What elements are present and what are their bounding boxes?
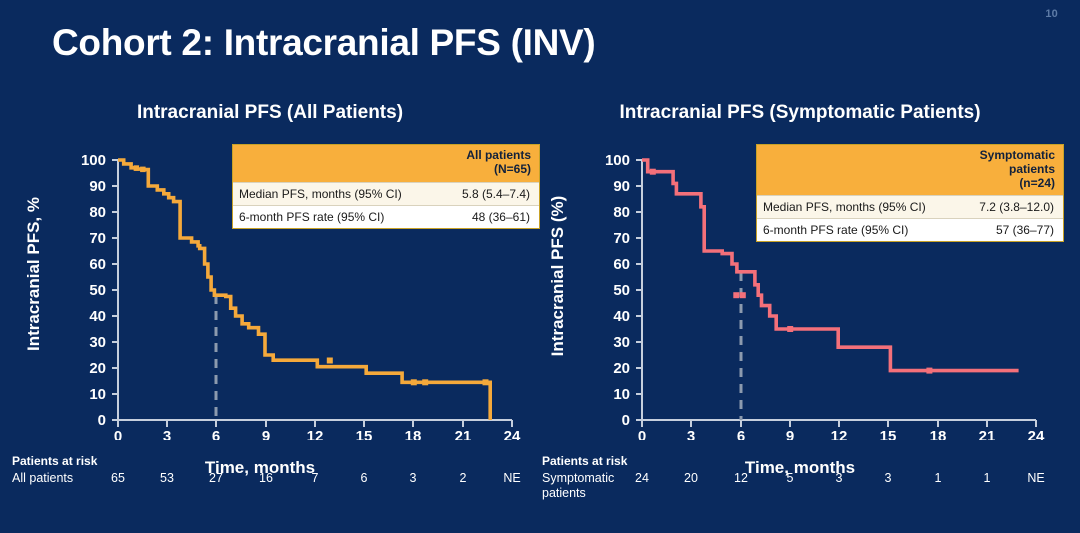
svg-text:70: 70 (613, 230, 630, 247)
median-pfs-value-left: 5.8 (5.4–7.4) (423, 182, 539, 205)
svg-text:60: 60 (613, 256, 630, 273)
risk-value: 65 (103, 471, 133, 485)
svg-text:80: 80 (613, 204, 630, 221)
svg-text:24: 24 (1028, 428, 1045, 440)
risk-value: 3 (824, 471, 854, 485)
stats-header-row: All patients (N=65) (233, 145, 539, 182)
risk-value: 3 (398, 471, 428, 485)
svg-text:3: 3 (163, 428, 171, 440)
risk-value: 3 (873, 471, 903, 485)
six-month-rate-value-left: 48 (36–61) (423, 205, 539, 228)
svg-text:6: 6 (212, 428, 220, 440)
risk-value: 53 (152, 471, 182, 485)
stats-header-all-patients: All patients (N=65) (423, 145, 539, 182)
svg-text:20: 20 (89, 360, 106, 377)
svg-text:21: 21 (979, 428, 996, 440)
stats-header-line3: (n=24) (951, 177, 1055, 191)
risk-value: 27 (201, 471, 231, 485)
six-month-rate-label-right: 6-month PFS rate (95% CI) (757, 219, 947, 242)
svg-text:18: 18 (930, 428, 947, 440)
svg-text:10: 10 (89, 386, 106, 403)
svg-text:0: 0 (98, 412, 106, 429)
svg-text:3: 3 (687, 428, 695, 440)
slide-canvas: 10 Cohort 2: Intracranial PFS (INV) Intr… (0, 0, 1080, 533)
risk-value: 1 (972, 471, 1002, 485)
risk-heading-right: Patients at risk (542, 454, 627, 468)
svg-text:90: 90 (613, 178, 630, 195)
patients-at-risk-left: Patients at risk All patients 65 53 27 1… (0, 454, 540, 524)
risk-value: NE (497, 471, 527, 485)
page-title: Cohort 2: Intracranial PFS (INV) (52, 22, 595, 64)
risk-value: 1 (923, 471, 953, 485)
risk-value: 16 (251, 471, 281, 485)
risk-value: 7 (300, 471, 330, 485)
risk-heading-left: Patients at risk (12, 454, 97, 468)
stats-header-blank (757, 145, 947, 196)
svg-text:21: 21 (455, 428, 472, 440)
svg-text:0: 0 (638, 428, 646, 440)
median-pfs-value-right: 7.2 (3.8–12.0) (947, 196, 1063, 219)
svg-text:15: 15 (880, 428, 897, 440)
svg-text:30: 30 (89, 334, 106, 351)
risk-value: 12 (726, 471, 756, 485)
stats-header-line2: (N=65) (427, 163, 531, 177)
svg-text:50: 50 (89, 282, 106, 299)
svg-text:0: 0 (622, 412, 630, 429)
svg-text:80: 80 (89, 204, 106, 221)
stats-table-all-patients: All patients (N=65) Median PFS, months (… (232, 144, 540, 229)
svg-text:0: 0 (114, 428, 122, 440)
stats-table-symptomatic-patients: Symptomatic patients (n=24) Median PFS, … (756, 144, 1064, 242)
risk-value: 20 (676, 471, 706, 485)
svg-text:40: 40 (613, 308, 630, 325)
stats-header-line1: Symptomatic (951, 149, 1055, 163)
stats-header-symptomatic-patients: Symptomatic patients (n=24) (947, 145, 1063, 196)
six-month-rate-label-left: 6-month PFS rate (95% CI) (233, 205, 423, 228)
chart-title-all-patients: Intracranial PFS (All Patients) (0, 102, 540, 124)
svg-text:30: 30 (613, 334, 630, 351)
risk-value: 24 (627, 471, 657, 485)
svg-text:12: 12 (307, 428, 324, 440)
svg-text:10: 10 (613, 386, 630, 403)
svg-text:18: 18 (405, 428, 422, 440)
panel-all-patients: Intracranial PFS (All Patients) Intracra… (0, 96, 540, 533)
six-month-rate-value-right: 57 (36–77) (947, 219, 1063, 242)
svg-text:24: 24 (504, 428, 521, 440)
svg-text:60: 60 (89, 256, 106, 273)
svg-text:6: 6 (737, 428, 745, 440)
table-row: 6-month PFS rate (95% CI) 57 (36–77) (757, 219, 1063, 242)
stats-header-row: Symptomatic patients (n=24) (757, 145, 1063, 196)
svg-text:70: 70 (89, 230, 106, 247)
svg-text:90: 90 (89, 178, 106, 195)
median-pfs-label-right: Median PFS, months (95% CI) (757, 196, 947, 219)
risk-value: 5 (775, 471, 805, 485)
svg-text:15: 15 (356, 428, 373, 440)
stats-header-line2: patients (951, 163, 1055, 177)
table-row: Median PFS, months (95% CI) 5.8 (5.4–7.4… (233, 182, 539, 205)
svg-text:40: 40 (89, 308, 106, 325)
panel-symptomatic-patients: Intracranial PFS (Symptomatic Patients) … (530, 96, 1070, 533)
table-row: 6-month PFS rate (95% CI) 48 (36–61) (233, 205, 539, 228)
risk-value: 6 (349, 471, 379, 485)
page-number: 10 (1045, 8, 1058, 20)
risk-value: 2 (448, 471, 478, 485)
svg-text:9: 9 (786, 428, 794, 440)
svg-text:50: 50 (613, 282, 630, 299)
patients-at-risk-right: Patients at risk Symptomatic patients 24… (530, 454, 1070, 524)
svg-text:100: 100 (81, 152, 106, 169)
median-pfs-label-left: Median PFS, months (95% CI) (233, 182, 423, 205)
stats-header-line1: All patients (427, 149, 531, 163)
svg-text:20: 20 (613, 360, 630, 377)
stats-header-blank (233, 145, 423, 182)
risk-value: NE (1021, 471, 1051, 485)
svg-text:12: 12 (831, 428, 848, 440)
table-row: Median PFS, months (95% CI) 7.2 (3.8–12.… (757, 196, 1063, 219)
chart-title-symptomatic-patients: Intracranial PFS (Symptomatic Patients) (530, 102, 1070, 124)
svg-text:9: 9 (262, 428, 270, 440)
svg-text:100: 100 (605, 152, 630, 169)
